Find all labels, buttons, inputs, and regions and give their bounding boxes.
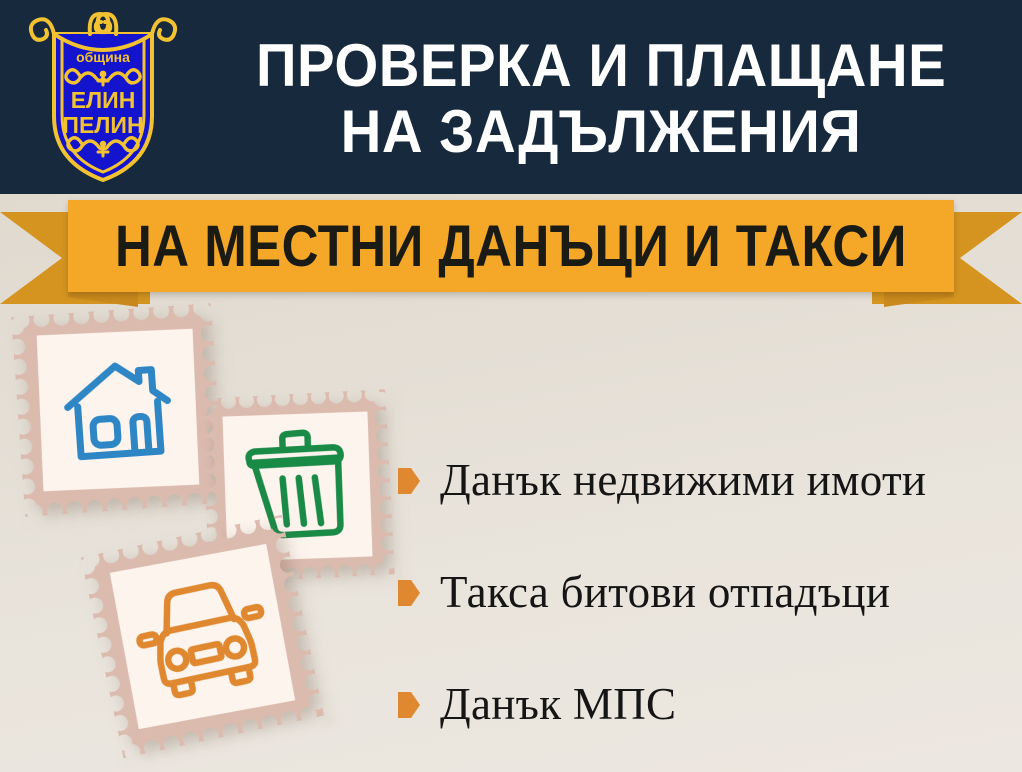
- list-item-label: Такса битови отпадъци: [440, 566, 890, 618]
- arrow-bullet-icon: [398, 692, 420, 718]
- list-item[interactable]: Данък недвижими имоти: [398, 424, 1018, 536]
- list-item[interactable]: Такса битови отпадъци: [398, 536, 1018, 648]
- arrow-bullet-icon: [398, 580, 420, 606]
- ribbon-label: НА МЕСТНИ ДАНЪЦИ И ТАКСИ: [115, 213, 907, 280]
- page-title: ПРОВЕРКА И ПЛАЩАНЕ НА ЗАДЪЛЖЕНИЯ: [186, 14, 1016, 184]
- list-item-label: Данък недвижими имоти: [440, 454, 926, 506]
- services-list: Данък недвижими имоти Такса битови отпад…: [398, 424, 1018, 760]
- ribbon-banner: НА МЕСТНИ ДАНЪЦИ И ТАКСИ: [0, 196, 1022, 316]
- municipality-emblem: община ЕЛИН ПЕЛИН: [28, 4, 178, 186]
- stamp-car-svg: [81, 515, 324, 758]
- arrow-bullet-icon: [398, 468, 420, 494]
- list-item-label: Данък МПС: [440, 678, 676, 730]
- list-item[interactable]: Данък МПС: [398, 648, 1018, 760]
- poster-canvas: община ЕЛИН ПЕЛИН ПРОВЕРКА И ПЛАЩАНЕ НА …: [0, 0, 1022, 772]
- stamp-card-vehicle: [81, 515, 324, 758]
- emblem-name-line2: ПЕЛИН: [62, 112, 143, 138]
- emblem-svg: община ЕЛИН ПЕЛИН: [28, 4, 178, 186]
- stamp-house-svg: [11, 303, 224, 516]
- header-bar: община ЕЛИН ПЕЛИН ПРОВЕРКА И ПЛАЩАНЕ НА …: [0, 0, 1022, 194]
- ribbon-main-band: НА МЕСТНИ ДАНЪЦИ И ТАКСИ: [68, 200, 954, 292]
- title-line-1: ПРОВЕРКА И ПЛАЩАНЕ: [256, 33, 946, 99]
- title-line-2: НА ЗАДЪЛЖЕНИЯ: [341, 99, 862, 165]
- stamp-card-property: [11, 303, 224, 516]
- emblem-name-line1: ЕЛИН: [71, 87, 136, 113]
- emblem-top-label: община: [76, 49, 130, 65]
